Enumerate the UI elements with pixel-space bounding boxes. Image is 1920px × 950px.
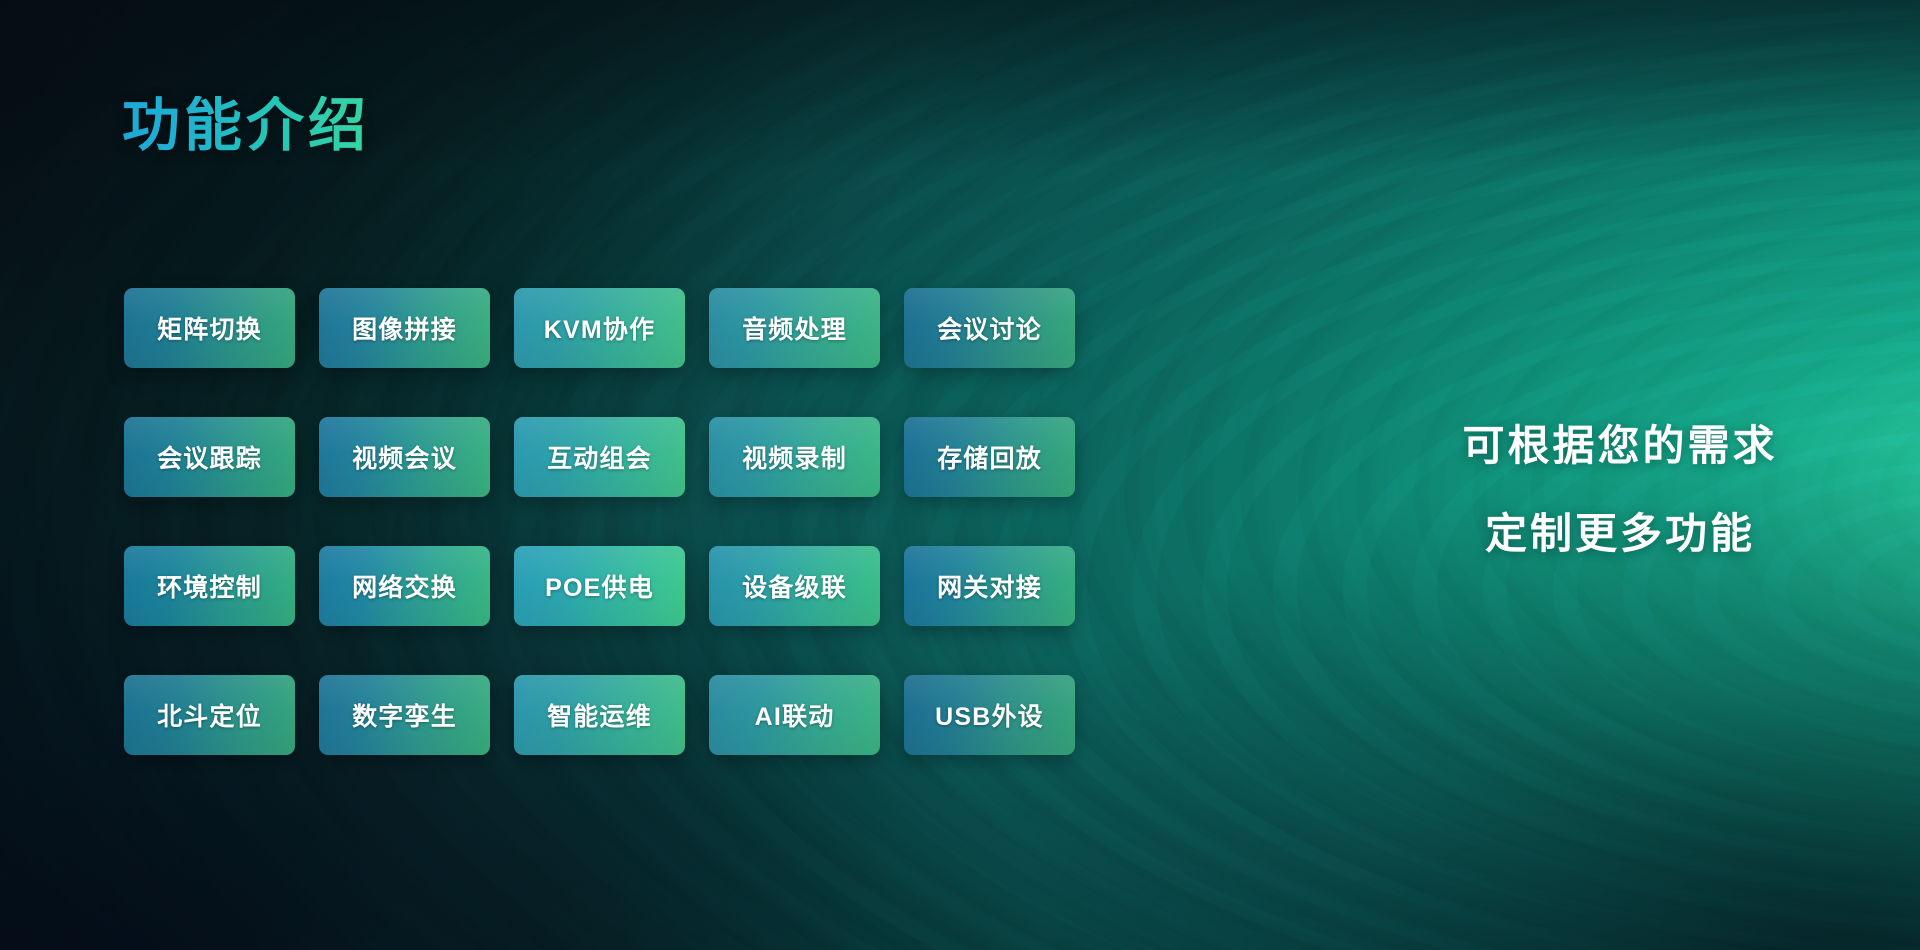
feature-chip-label: AI联动: [755, 697, 835, 733]
feature-chip[interactable]: 设备级联: [709, 546, 880, 626]
feature-chip[interactable]: 数字孪生: [319, 675, 490, 755]
feature-chip[interactable]: 视频录制: [709, 417, 880, 497]
feature-chip[interactable]: 网关对接: [904, 546, 1075, 626]
feature-chip[interactable]: 存储回放: [904, 417, 1075, 497]
feature-chip-label: 数字孪生: [352, 697, 457, 733]
feature-grid: 矩阵切换 图像拼接 KVM协作 音频处理 会议讨论 会议跟踪 视频会议 互动: [124, 288, 1075, 755]
feature-chip-label: POE供电: [545, 568, 654, 604]
feature-chip-label: 网络交换: [352, 568, 457, 604]
feature-chip[interactable]: 智能运维: [514, 675, 685, 755]
feature-chip-label: 环境控制: [157, 568, 262, 604]
slide-canvas: 功能介绍 矩阵切换 图像拼接 KVM协作 音频处理 会议讨论 会议跟踪: [0, 0, 1920, 950]
feature-chip[interactable]: KVM协作: [514, 288, 685, 368]
feature-chip-label: KVM协作: [544, 310, 656, 346]
feature-chip-label: 北斗定位: [157, 697, 262, 733]
feature-chip-label: 图像拼接: [352, 310, 457, 346]
feature-chip-label: 视频录制: [742, 439, 847, 475]
tagline-line-2: 定制更多功能: [1410, 513, 1830, 555]
tagline: 可根据您的需求 定制更多功能: [1410, 425, 1830, 555]
tagline-line-1: 可根据您的需求: [1410, 425, 1830, 467]
feature-chip-label: 设备级联: [742, 568, 847, 604]
feature-chip[interactable]: 会议讨论: [904, 288, 1075, 368]
feature-chip[interactable]: 图像拼接: [319, 288, 490, 368]
feature-chip[interactable]: AI联动: [709, 675, 880, 755]
feature-chip[interactable]: 北斗定位: [124, 675, 295, 755]
feature-chip[interactable]: 网络交换: [319, 546, 490, 626]
feature-chip-label: USB外设: [935, 697, 1044, 733]
feature-chip[interactable]: 互动组会: [514, 417, 685, 497]
feature-chip-label: 音频处理: [742, 310, 847, 346]
feature-chip-label: 智能运维: [547, 697, 652, 733]
feature-chip-label: 存储回放: [937, 439, 1042, 475]
feature-chip[interactable]: 环境控制: [124, 546, 295, 626]
slide-content: 功能介绍 矩阵切换 图像拼接 KVM协作 音频处理 会议讨论 会议跟踪: [0, 0, 1920, 950]
feature-chip-label: 矩阵切换: [157, 310, 262, 346]
feature-chip[interactable]: 矩阵切换: [124, 288, 295, 368]
feature-chip-label: 互动组会: [547, 439, 652, 475]
feature-chip-label: 会议跟踪: [157, 439, 262, 475]
feature-chip[interactable]: 会议跟踪: [124, 417, 295, 497]
feature-chip-label: 会议讨论: [937, 310, 1042, 346]
feature-chip[interactable]: 视频会议: [319, 417, 490, 497]
page-title: 功能介绍: [122, 96, 370, 157]
feature-chip[interactable]: POE供电: [514, 546, 685, 626]
feature-chip[interactable]: USB外设: [904, 675, 1075, 755]
feature-chip[interactable]: 音频处理: [709, 288, 880, 368]
feature-chip-label: 视频会议: [352, 439, 457, 475]
feature-chip-label: 网关对接: [937, 568, 1042, 604]
